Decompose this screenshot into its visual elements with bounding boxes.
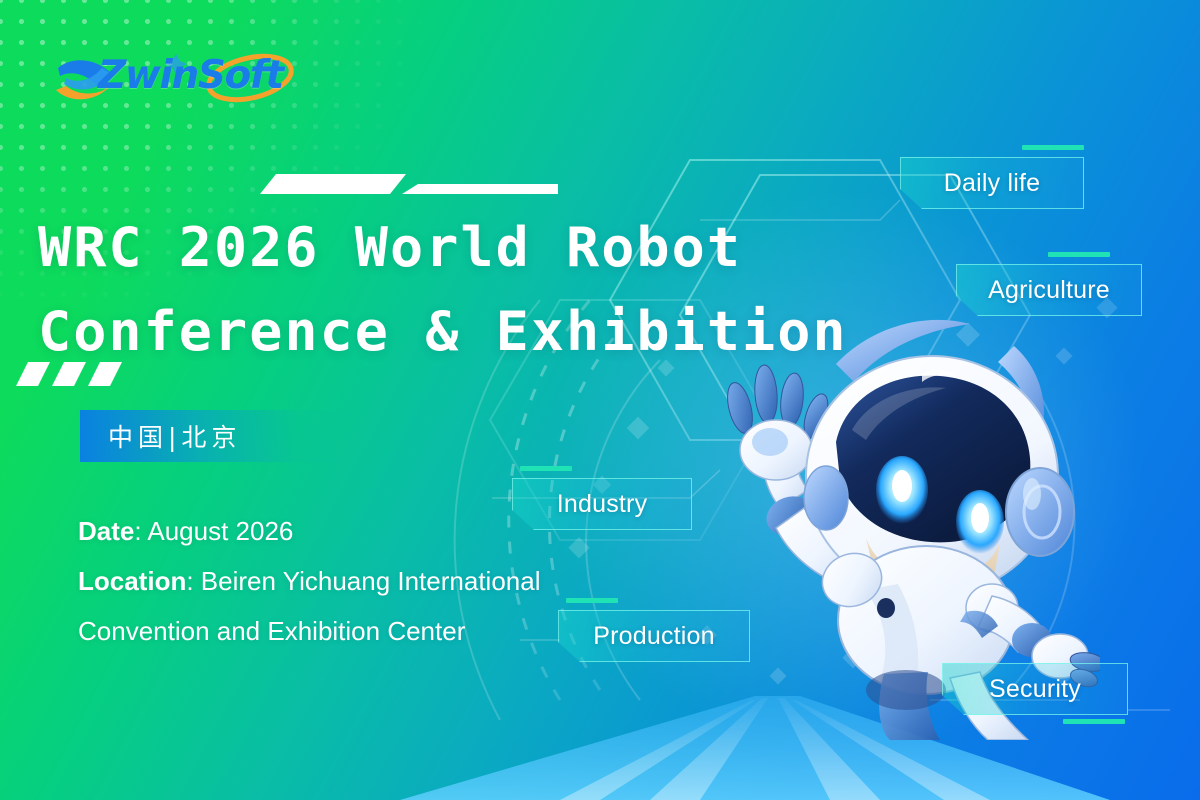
robot-antenna-left — [836, 320, 970, 382]
tag-chip-production[interactable]: Production — [558, 610, 750, 662]
tag-chip-agriculture[interactable]: Agriculture — [956, 264, 1142, 316]
robot-chest-dot — [877, 598, 895, 618]
promo-banner: ZwinSoft WRC 2026 World Robot Conference… — [0, 0, 1200, 800]
robot-antenna-right — [998, 346, 1044, 450]
event-location-value: : Beiren Yichuang International — [186, 566, 540, 596]
page-title: WRC 2026 World Robot Conference & Exhibi… — [38, 206, 823, 374]
robot-left-arm — [723, 364, 862, 586]
robot-ear-right — [1006, 468, 1074, 556]
robot-head — [804, 356, 1074, 596]
tag-chip-label: Agriculture — [988, 276, 1110, 305]
tag-chip-label: Daily life — [944, 169, 1040, 198]
tag-chip-security[interactable]: Security — [942, 663, 1128, 715]
tag-chip-label: Production — [593, 622, 715, 651]
chip-accent-dash-production — [566, 598, 618, 603]
robot-ear-left — [804, 466, 848, 530]
tag-chip-daily-life[interactable]: Daily life — [900, 157, 1084, 209]
title-line-2: Conference & Exhibition — [38, 290, 823, 374]
chip-accent-dash-daily — [1022, 145, 1084, 150]
slash-bars-top — [258, 172, 558, 202]
event-date-label: Date — [78, 516, 134, 546]
event-date-value: : August 2026 — [134, 516, 293, 546]
tag-chip-industry[interactable]: Industry — [512, 478, 692, 530]
chip-accent-dash-security — [1063, 719, 1125, 724]
tag-chip-label: Security — [989, 675, 1081, 704]
robot-eye-right — [956, 490, 1004, 554]
tag-chip-label: Industry — [557, 490, 648, 519]
robot-eye-left — [876, 456, 928, 524]
chip-accent-dash-industry — [520, 466, 572, 471]
event-location-label: Location — [78, 566, 186, 596]
region-badge-label: 中国|北京 — [80, 418, 241, 454]
brand-logo-text: ZwinSoft — [98, 53, 283, 98]
chip-accent-dash-agriculture — [1048, 252, 1110, 257]
brand-logo[interactable]: ZwinSoft — [54, 50, 294, 108]
region-badge: 中国|北京 — [80, 410, 352, 462]
title-line-1: WRC 2026 World Robot — [38, 206, 823, 290]
